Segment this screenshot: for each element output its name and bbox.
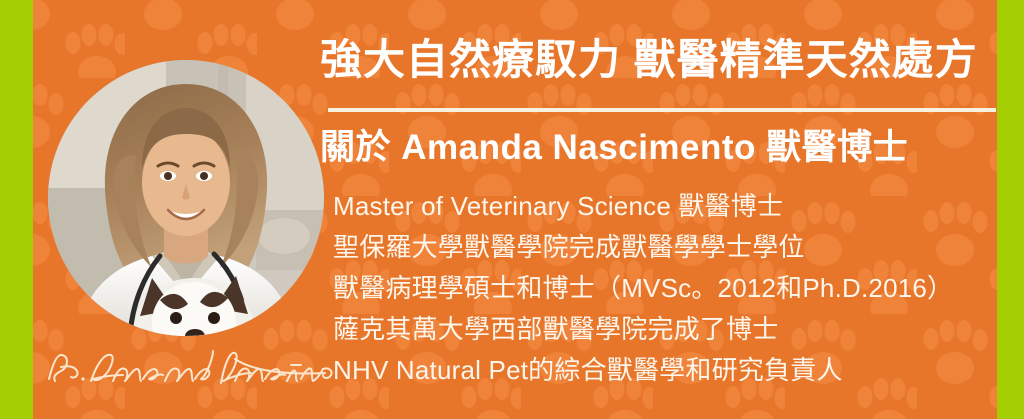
divider xyxy=(328,108,996,112)
page-title: 強大自然療馭力 獸醫精準天然處方 xyxy=(320,34,997,86)
list-item: Master of Veterinary Science 獸醫博士 xyxy=(333,186,997,227)
text-column: 強大自然療馭力 獸醫精準天然處方 關於 Amanda Nascimento 獸醫… xyxy=(320,0,997,419)
avatar xyxy=(48,60,324,336)
list-item: 聖保羅大學獸醫學院完成獸醫學學士學位 xyxy=(333,227,997,268)
list-item: 薩克其萬大學西部獸醫學院完成了博士 xyxy=(333,309,997,350)
left-green-accent-bar xyxy=(0,0,33,419)
credentials-list: Master of Veterinary Science 獸醫博士 聖保羅大學獸… xyxy=(333,186,997,391)
right-green-accent-bar xyxy=(997,0,1024,419)
veterinarian-profile-banner: 強大自然療馭力 獸醫精準天然處方 關於 Amanda Nascimento 獸醫… xyxy=(0,0,1024,419)
orange-content-panel: 強大自然療馭力 獸醫精準天然處方 關於 Amanda Nascimento 獸醫… xyxy=(33,0,997,419)
list-item: NHV Natural Pet的綜合獸醫學和研究負責人 xyxy=(333,350,997,391)
list-item: 獸醫病理學碩士和博士（MVSc。2012和Ph.D.2016） xyxy=(333,268,997,309)
signature xyxy=(39,337,339,397)
section-subtitle: 關於 Amanda Nascimento 獸醫博士 xyxy=(320,126,997,170)
